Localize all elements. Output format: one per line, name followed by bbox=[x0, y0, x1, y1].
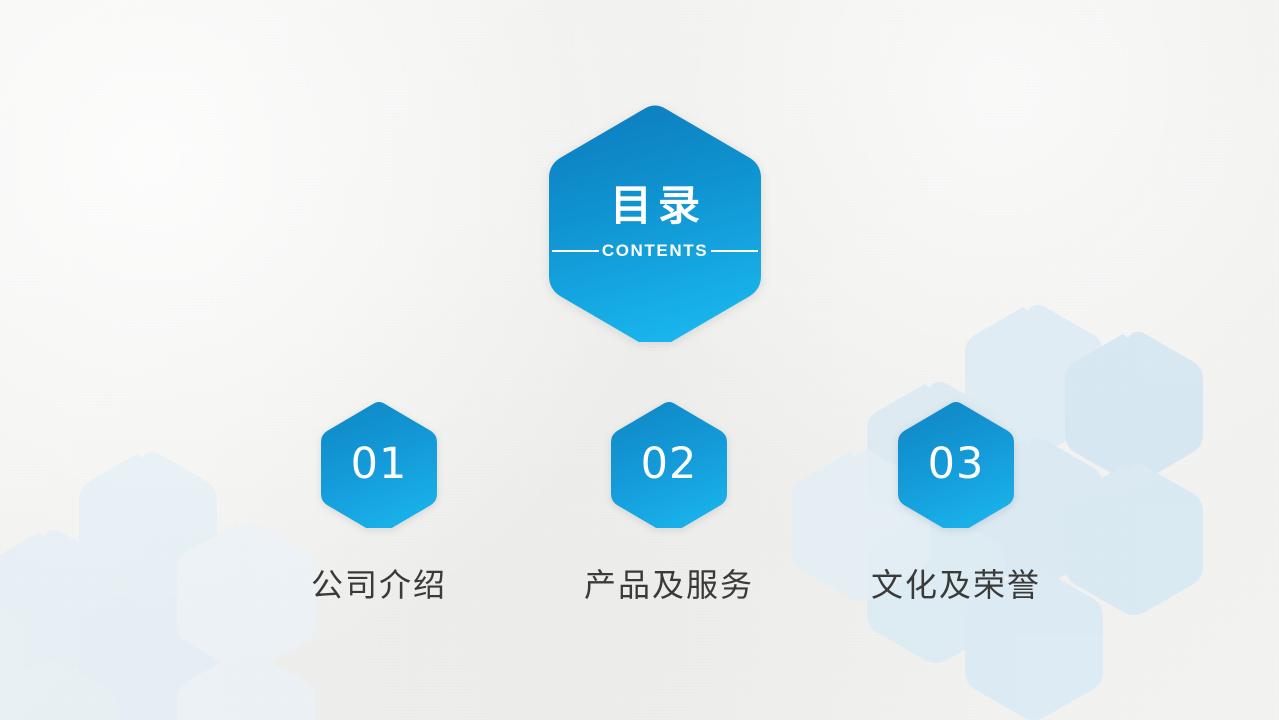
item-number-02: 02 bbox=[607, 400, 731, 528]
slide-content: 目录 CONTENTS 01 公司介绍 bbox=[0, 0, 1279, 720]
item-number-03: 03 bbox=[894, 400, 1018, 528]
contents-title: 目录 bbox=[604, 185, 706, 227]
item-number-01: 01 bbox=[317, 400, 441, 528]
rule-right bbox=[711, 250, 758, 252]
item-label-01[interactable]: 公司介绍 bbox=[237, 560, 521, 606]
contents-subtitle-row: CONTENTS bbox=[552, 241, 758, 261]
contents-subtitle: CONTENTS bbox=[599, 241, 711, 261]
rule-left bbox=[552, 250, 599, 252]
contents-slide: 目录 CONTENTS 01 公司介绍 bbox=[0, 0, 1279, 720]
item-label-02[interactable]: 产品及服务 bbox=[527, 560, 811, 606]
item-label-03[interactable]: 文化及荣誉 bbox=[814, 560, 1098, 606]
contents-badge-text: 目录 CONTENTS bbox=[544, 104, 766, 342]
